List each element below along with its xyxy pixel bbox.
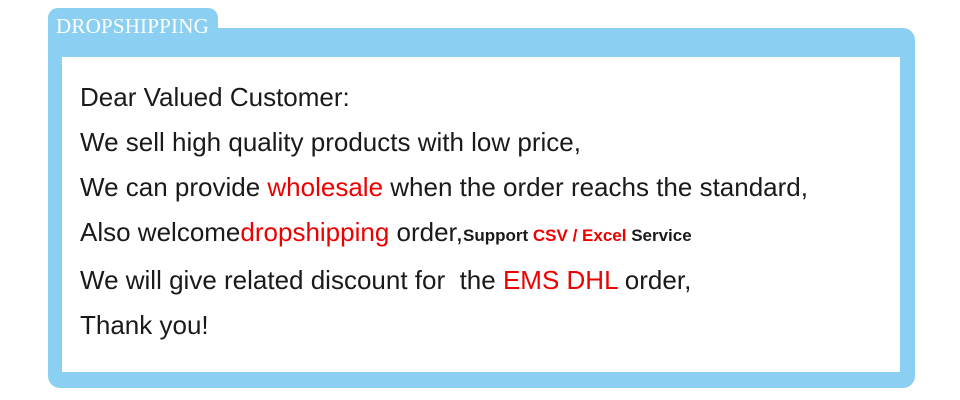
wholesale-highlight: wholesale — [267, 172, 383, 202]
line6-text: Thank you! — [80, 310, 209, 340]
tab-title-dropshipping: DROPSHIPPING — [56, 12, 218, 40]
line4-text-before: Also welcome — [80, 217, 240, 247]
message-text-block: Dear Valued Customer: We sell high quali… — [80, 75, 890, 348]
support-label: Support — [463, 226, 533, 245]
message-panel: Dear Valued Customer: We sell high quali… — [62, 57, 900, 372]
ems-dhl-highlight: EMS DHL — [503, 265, 618, 295]
line3-text-after: when the order reachs the standard, — [383, 172, 808, 202]
csv-excel-highlight: CSV / Excel — [533, 226, 627, 245]
line4-text-order: order, — [389, 217, 463, 247]
message-line-wholesale: We can provide wholesale when the order … — [80, 165, 890, 210]
line1-text: Dear Valued Customer: — [80, 82, 350, 112]
dropshipping-banner: DROPSHIPPING Dear Valued Customer: We se… — [0, 0, 960, 400]
message-line-thanks: Thank you! — [80, 303, 890, 348]
service-label: Service — [626, 226, 691, 245]
line2-text: We sell high quality products with low p… — [80, 127, 581, 157]
message-line-quality: We sell high quality products with low p… — [80, 120, 890, 165]
message-line-shipping-discount: We will give related discount for the EM… — [80, 258, 890, 303]
line5-text-after: order, — [618, 265, 692, 295]
line3-text-before: We can provide — [80, 172, 267, 202]
dropshipping-highlight: dropshipping — [240, 217, 389, 247]
message-line-dropshipping: Also welcomedropshipping order,Support C… — [80, 210, 890, 258]
message-line-greeting: Dear Valued Customer: — [80, 75, 890, 120]
line5-text-before: We will give related discount for the — [80, 265, 503, 295]
